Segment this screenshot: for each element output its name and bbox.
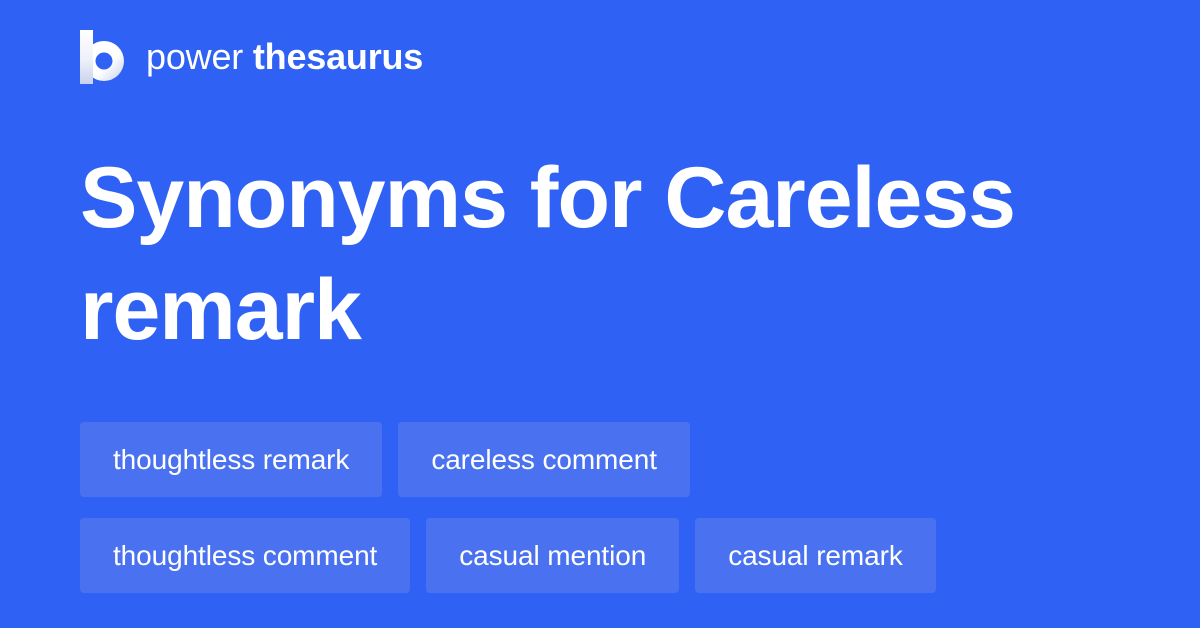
brand-word-thesaurus: thesaurus [253,36,423,77]
brand-logo[interactable]: power thesaurus [80,28,423,86]
synonym-chip-row: thoughtless comment casual mention casua… [80,518,1140,593]
synonym-chip[interactable]: careless comment [398,422,690,497]
synonym-chip[interactable]: casual mention [426,518,679,593]
brand-wordmark: power thesaurus [146,39,423,75]
share-card: power thesaurus Synonyms for Careless re… [0,0,1200,628]
synonym-chip-list: thoughtless remark careless comment thou… [80,422,1140,593]
synonym-chip[interactable]: thoughtless comment [80,518,410,593]
brand-word-power: power [146,36,243,77]
power-thesaurus-b-logo-icon [80,30,124,84]
synonym-chip[interactable]: casual remark [695,518,936,593]
synonym-chip-row: thoughtless remark careless comment [80,422,1140,497]
synonym-chip[interactable]: thoughtless remark [80,422,382,497]
page-title: Synonyms for Careless remark [80,142,1040,366]
